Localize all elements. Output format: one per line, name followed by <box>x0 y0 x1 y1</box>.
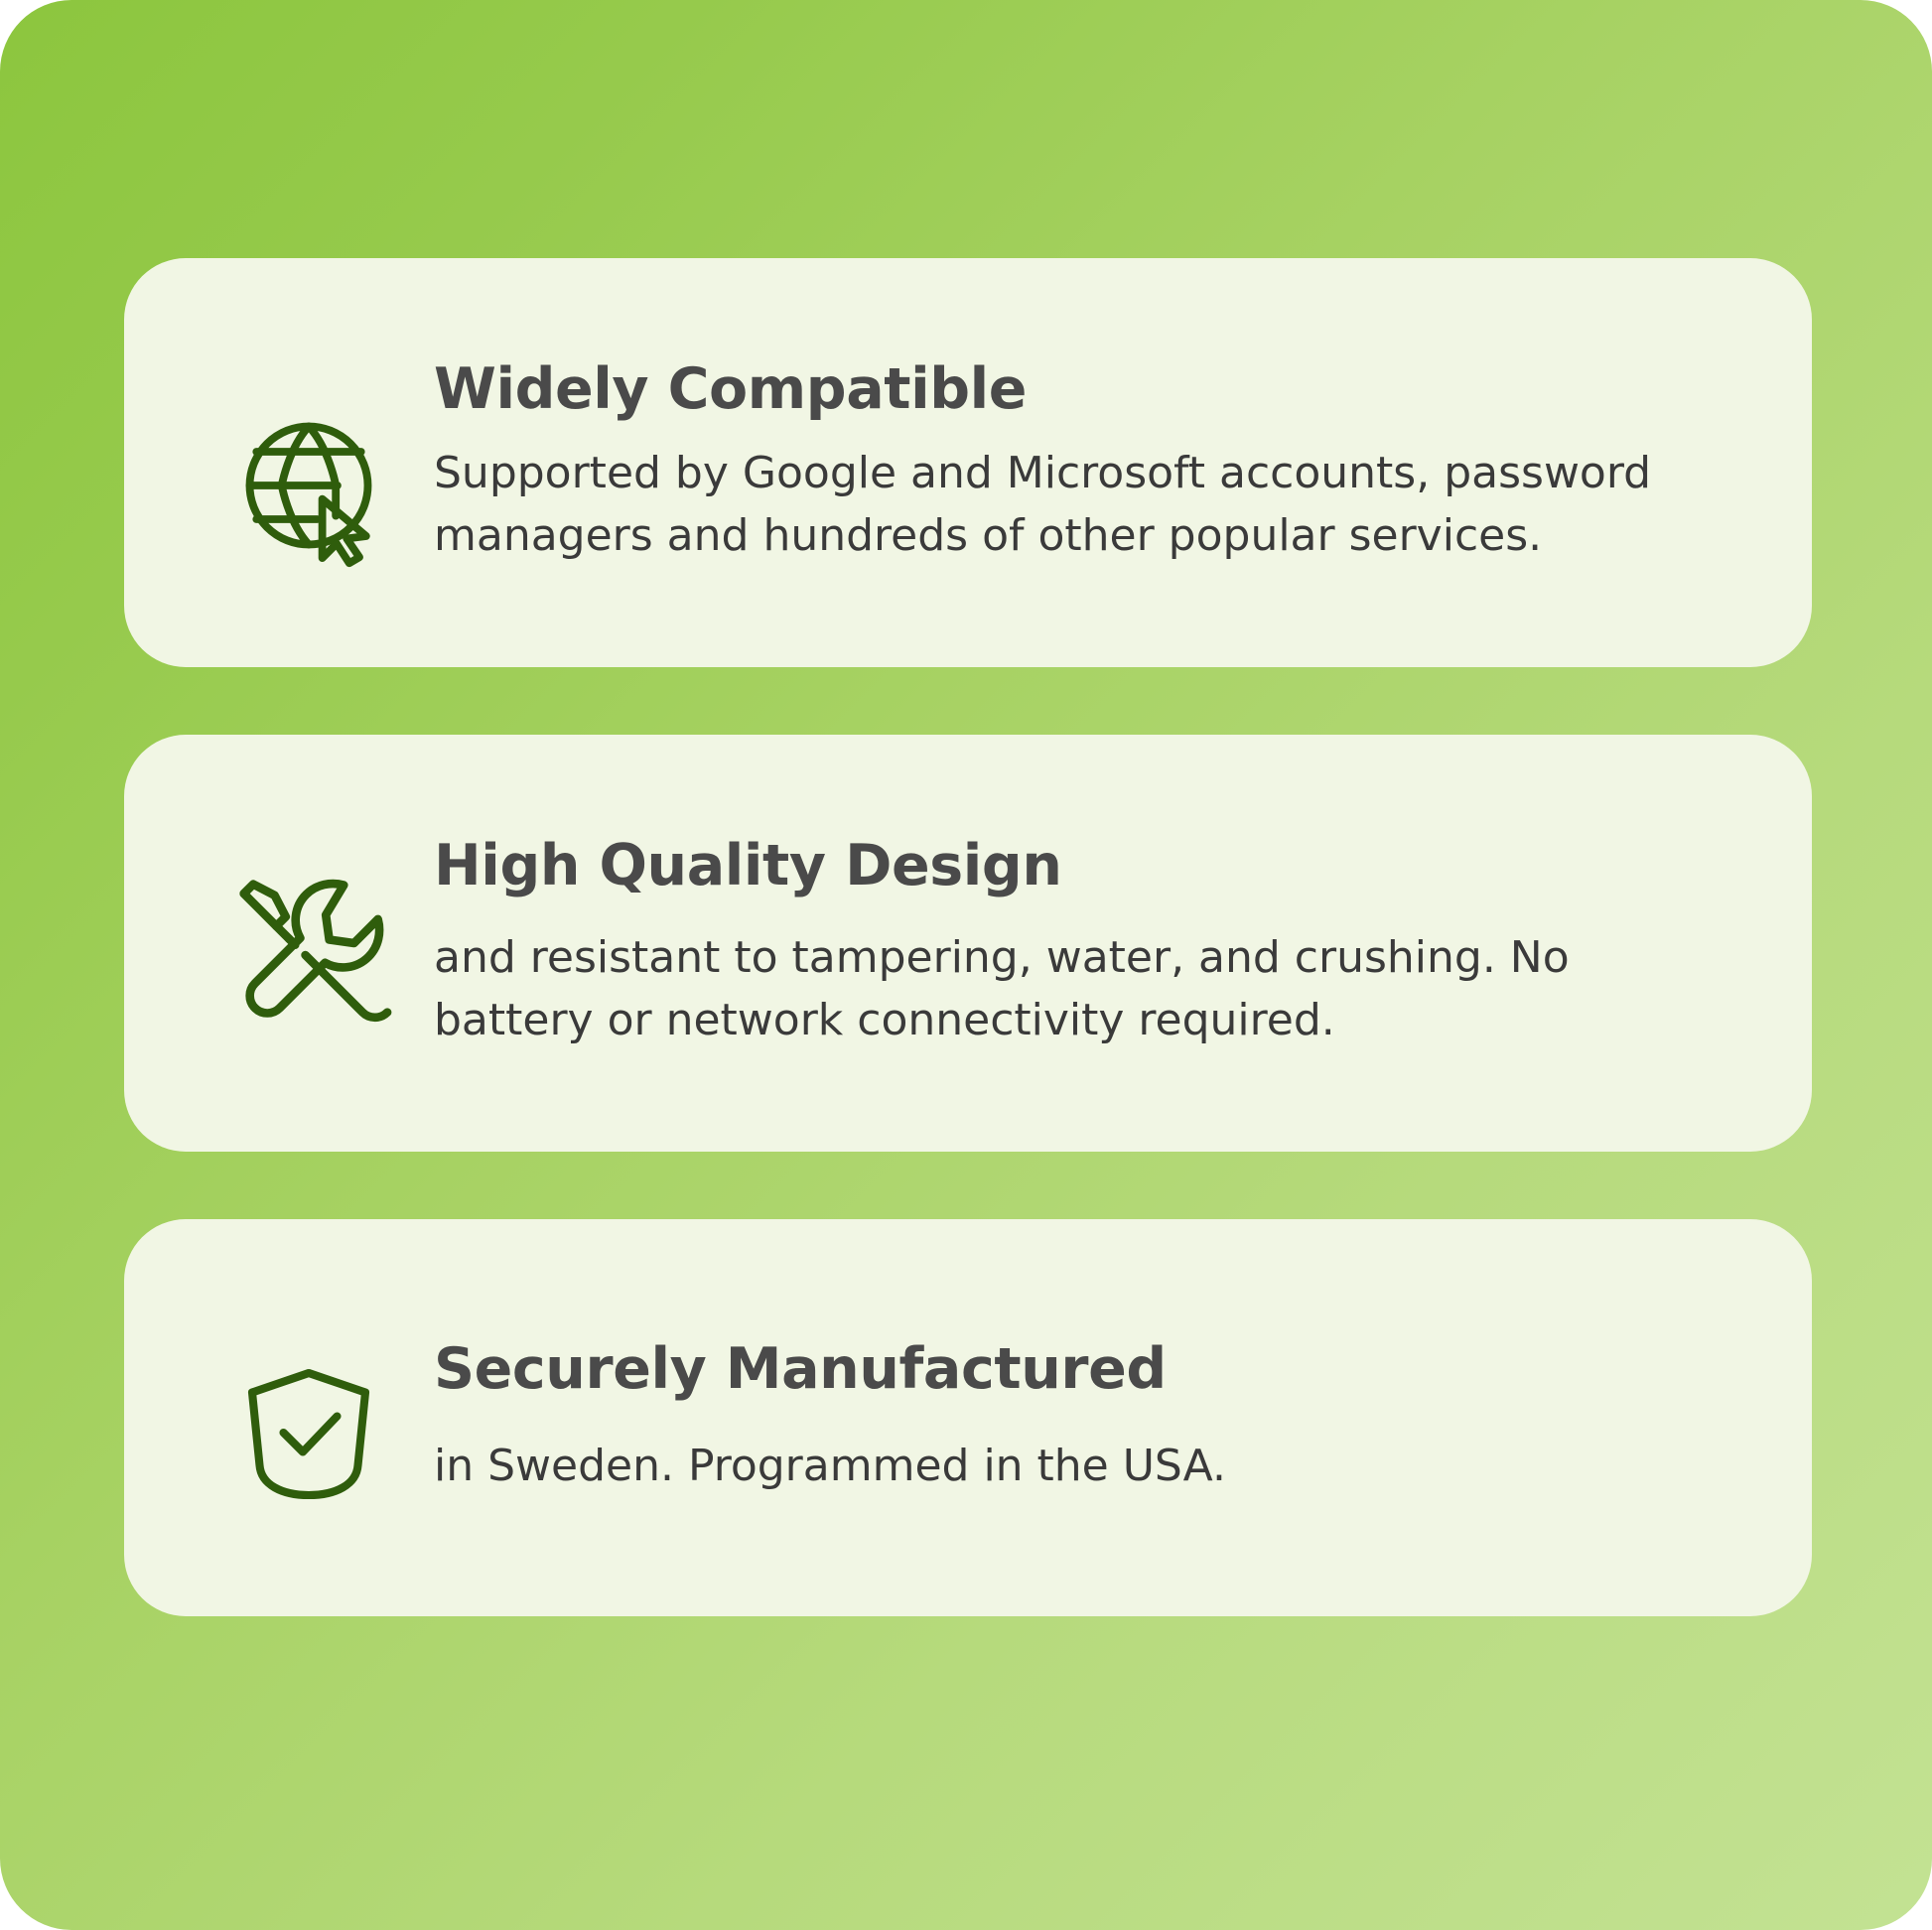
card-body: and resistant to tampering, water, and c… <box>434 927 1742 1051</box>
feature-card-list: Widely Compatible Supported by Google an… <box>124 258 1812 1616</box>
shield-check-icon <box>184 1328 434 1507</box>
feature-card-securely-manufactured: Securely Manufactured in Sweden. Program… <box>124 1219 1812 1616</box>
card-body: in Sweden. Programmed in the USA. <box>434 1436 1742 1497</box>
feature-card-high-quality-design: High Quality Design and resistant to tam… <box>124 735 1812 1152</box>
card-title: Widely Compatible <box>434 358 1742 422</box>
wrench-screwdriver-icon <box>184 852 434 1034</box>
feature-card-text: Widely Compatible Supported by Google an… <box>434 358 1752 568</box>
globe-cursor-icon <box>184 355 434 570</box>
feature-panel: Widely Compatible Supported by Google an… <box>0 0 1932 1930</box>
card-body: Supported by Google and Microsoft accoun… <box>434 443 1742 567</box>
card-title: Securely Manufactured <box>434 1338 1742 1402</box>
feature-card-text: High Quality Design and resistant to tam… <box>434 835 1752 1052</box>
feature-card-text: Securely Manufactured in Sweden. Program… <box>434 1338 1752 1497</box>
card-title: High Quality Design <box>434 835 1742 898</box>
feature-card-widely-compatible: Widely Compatible Supported by Google an… <box>124 258 1812 667</box>
